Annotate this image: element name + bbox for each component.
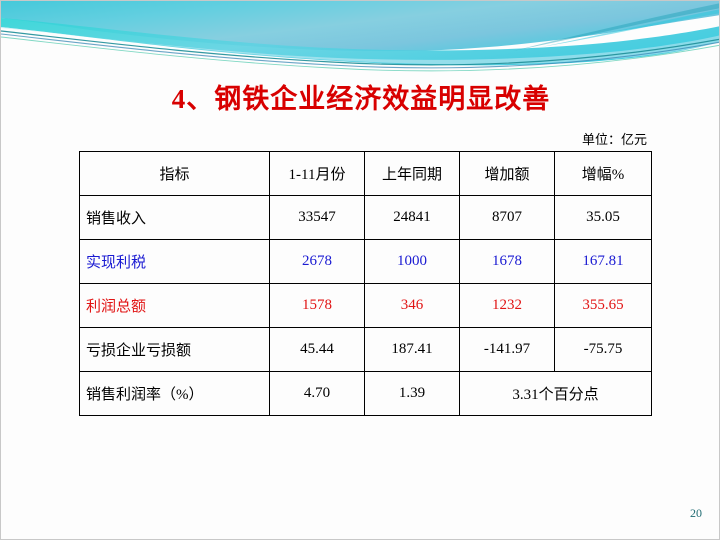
table-header-cell-1: 1-11月份 bbox=[270, 152, 365, 196]
table-row-label: 销售利润率（%） bbox=[80, 372, 270, 416]
table-row: 销售收入3354724841870735.05 bbox=[80, 196, 652, 240]
table-cell: 24841 bbox=[365, 196, 460, 240]
table-row: 实现利税267810001678167.81 bbox=[80, 240, 652, 284]
table-cell: 1.39 bbox=[365, 372, 460, 416]
wave-banner-decoration bbox=[1, 1, 720, 79]
table-header-row: 指标1-11月份上年同期增加额增幅% bbox=[80, 152, 652, 196]
table-cell: 355.65 bbox=[555, 284, 652, 328]
table-row: 销售利润率（%）4.701.393.31个百分点 bbox=[80, 372, 652, 416]
table-row: 利润总额15783461232355.65 bbox=[80, 284, 652, 328]
page-number: 20 bbox=[690, 506, 702, 521]
slide-canvas: 4、钢铁企业经济效益明显改善 单位：亿元 指标1-11月份上年同期增加额增幅%销… bbox=[0, 0, 720, 540]
table-cell: 1678 bbox=[460, 240, 555, 284]
unit-note-label: 单位：亿元 bbox=[582, 129, 647, 148]
table-cell-merged: 3.31个百分点 bbox=[460, 372, 652, 416]
table-cell: 167.81 bbox=[555, 240, 652, 284]
economic-indicators-table: 指标1-11月份上年同期增加额增幅%销售收入3354724841870735.0… bbox=[79, 151, 652, 416]
table-header-cell-0: 指标 bbox=[80, 152, 270, 196]
table-cell: 8707 bbox=[460, 196, 555, 240]
table-header-cell-4: 增幅% bbox=[555, 152, 652, 196]
table-row: 亏损企业亏损额45.44187.41-141.97-75.75 bbox=[80, 328, 652, 372]
table-container: 指标1-11月份上年同期增加额增幅%销售收入3354724841870735.0… bbox=[79, 151, 651, 416]
table-row-label: 实现利税 bbox=[80, 240, 270, 284]
table-cell: 346 bbox=[365, 284, 460, 328]
slide-title: 4、钢铁企业经济效益明显改善 bbox=[1, 77, 720, 116]
table-cell: -141.97 bbox=[460, 328, 555, 372]
table-cell: 35.05 bbox=[555, 196, 652, 240]
table-cell: 4.70 bbox=[270, 372, 365, 416]
table-cell: 2678 bbox=[270, 240, 365, 284]
table-row-label: 利润总额 bbox=[80, 284, 270, 328]
table-cell: 187.41 bbox=[365, 328, 460, 372]
table-cell: 1232 bbox=[460, 284, 555, 328]
table-cell: 33547 bbox=[270, 196, 365, 240]
table-row-label: 亏损企业亏损额 bbox=[80, 328, 270, 372]
table-cell: 45.44 bbox=[270, 328, 365, 372]
wave-banner-svg bbox=[1, 1, 720, 79]
table-cell: -75.75 bbox=[555, 328, 652, 372]
table-cell: 1000 bbox=[365, 240, 460, 284]
table-cell: 1578 bbox=[270, 284, 365, 328]
table-header-cell-2: 上年同期 bbox=[365, 152, 460, 196]
table-row-label: 销售收入 bbox=[80, 196, 270, 240]
table-header-cell-3: 增加额 bbox=[460, 152, 555, 196]
